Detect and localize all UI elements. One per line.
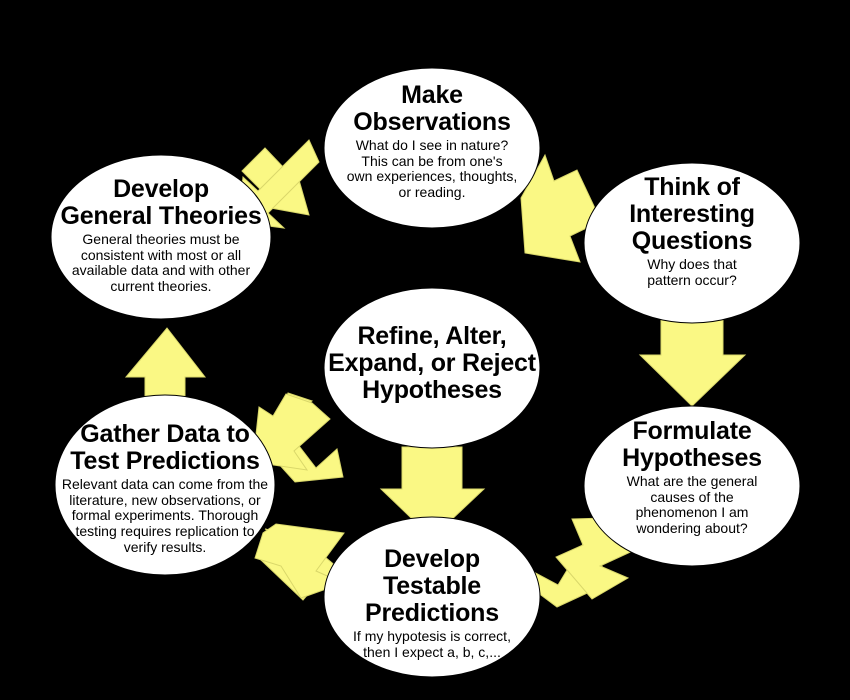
scientific-method-cycle-diagram: Make Observations What do I see in natur… — [0, 0, 850, 700]
desc-think-of-interesting-questions: Why does that pattern occur? — [582, 257, 802, 288]
desc-develop-testable-predictions: If my hypotesis is correct, then I expec… — [322, 629, 542, 660]
title-gather-data-to-test-predictions: Gather Data to Test Predictions — [52, 421, 278, 475]
label-formulate-hypotheses[interactable]: Formulate Hypotheses What are the genera… — [582, 418, 802, 537]
desc-gather-data-to-test-predictions: Relevant data can come from the literatu… — [52, 477, 278, 555]
title-think-of-interesting-questions: Think of Interesting Questions — [582, 174, 802, 255]
title-develop-general-theories: Develop General Theories — [48, 176, 274, 230]
label-refine-alter-expand-or-reject-hypotheses[interactable]: Refine, Alter, Expand, or Reject Hypothe… — [318, 323, 546, 404]
label-develop-general-theories[interactable]: Develop General Theories General theorie… — [48, 176, 274, 295]
label-develop-testable-predictions[interactable]: Develop Testable Predictions If my hypot… — [322, 546, 542, 660]
label-think-of-interesting-questions[interactable]: Think of Interesting Questions Why does … — [582, 174, 802, 288]
desc-formulate-hypotheses: What are the general causes of the pheno… — [582, 474, 802, 537]
arrow-questions-to-hypotheses — [640, 316, 745, 406]
title-develop-testable-predictions: Develop Testable Predictions — [322, 546, 542, 627]
title-make-observations: Make Observations — [322, 82, 542, 136]
desc-make-observations: What do I see in nature? This can be fro… — [322, 138, 542, 201]
desc-develop-general-theories: General theories must be consistent with… — [48, 232, 274, 295]
title-refine-alter-expand-or-reject-hypotheses: Refine, Alter, Expand, or Reject Hypothe… — [318, 323, 546, 404]
label-gather-data-to-test-predictions[interactable]: Gather Data to Test Predictions Relevant… — [52, 421, 278, 555]
label-make-observations[interactable]: Make Observations What do I see in natur… — [322, 82, 542, 201]
title-formulate-hypotheses: Formulate Hypotheses — [582, 418, 802, 472]
